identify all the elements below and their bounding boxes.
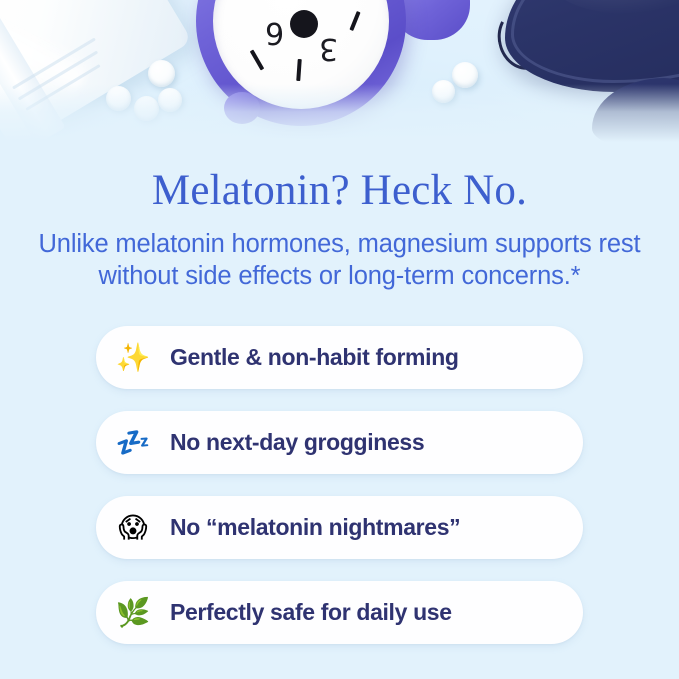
hero-fade-overlay [0,84,679,142]
feature-label: Gentle & non-habit forming [170,344,459,371]
herb-leaf-icon: 🌿 [96,599,170,627]
feature-label: Perfectly safe for daily use [170,599,452,626]
feature-label: No next-day grogginess [170,429,424,456]
feature-card-daily-use: 🌿 Perfectly safe for daily use [96,581,583,644]
hero-photo: 6 3 [0,0,679,142]
feature-card-gentle: ✨ Gentle & non-habit forming [96,326,583,389]
page-title: Melatonin? Heck No. [0,166,679,216]
clock-numeral-3: 3 [319,31,338,66]
zzz-sleep-icon: 💤 [96,429,170,457]
clock-numeral-6: 6 [265,15,284,50]
clock-tick [349,11,360,31]
page-subtitle: Unlike melatonin hormones, magnesium sup… [28,228,652,292]
promo-panel: 6 3 Melatonin? Heck No. Unlike melatonin… [0,0,679,679]
feature-list: ✨ Gentle & non-habit forming 💤 No next-d… [96,326,583,666]
tablet [148,60,175,87]
feature-card-nightmares: 😱 No “melatonin nightmares” [96,496,583,559]
screaming-face-icon: 😱 [96,514,170,542]
clock-center-pin [290,10,318,38]
sparkles-icon: ✨ [96,344,170,372]
sleep-mask-sheen [552,0,679,14]
clock-tick [250,49,264,70]
clock-tick [296,59,302,81]
feature-label: No “melatonin nightmares” [170,514,460,541]
feature-card-grogginess: 💤 No next-day grogginess [96,411,583,474]
